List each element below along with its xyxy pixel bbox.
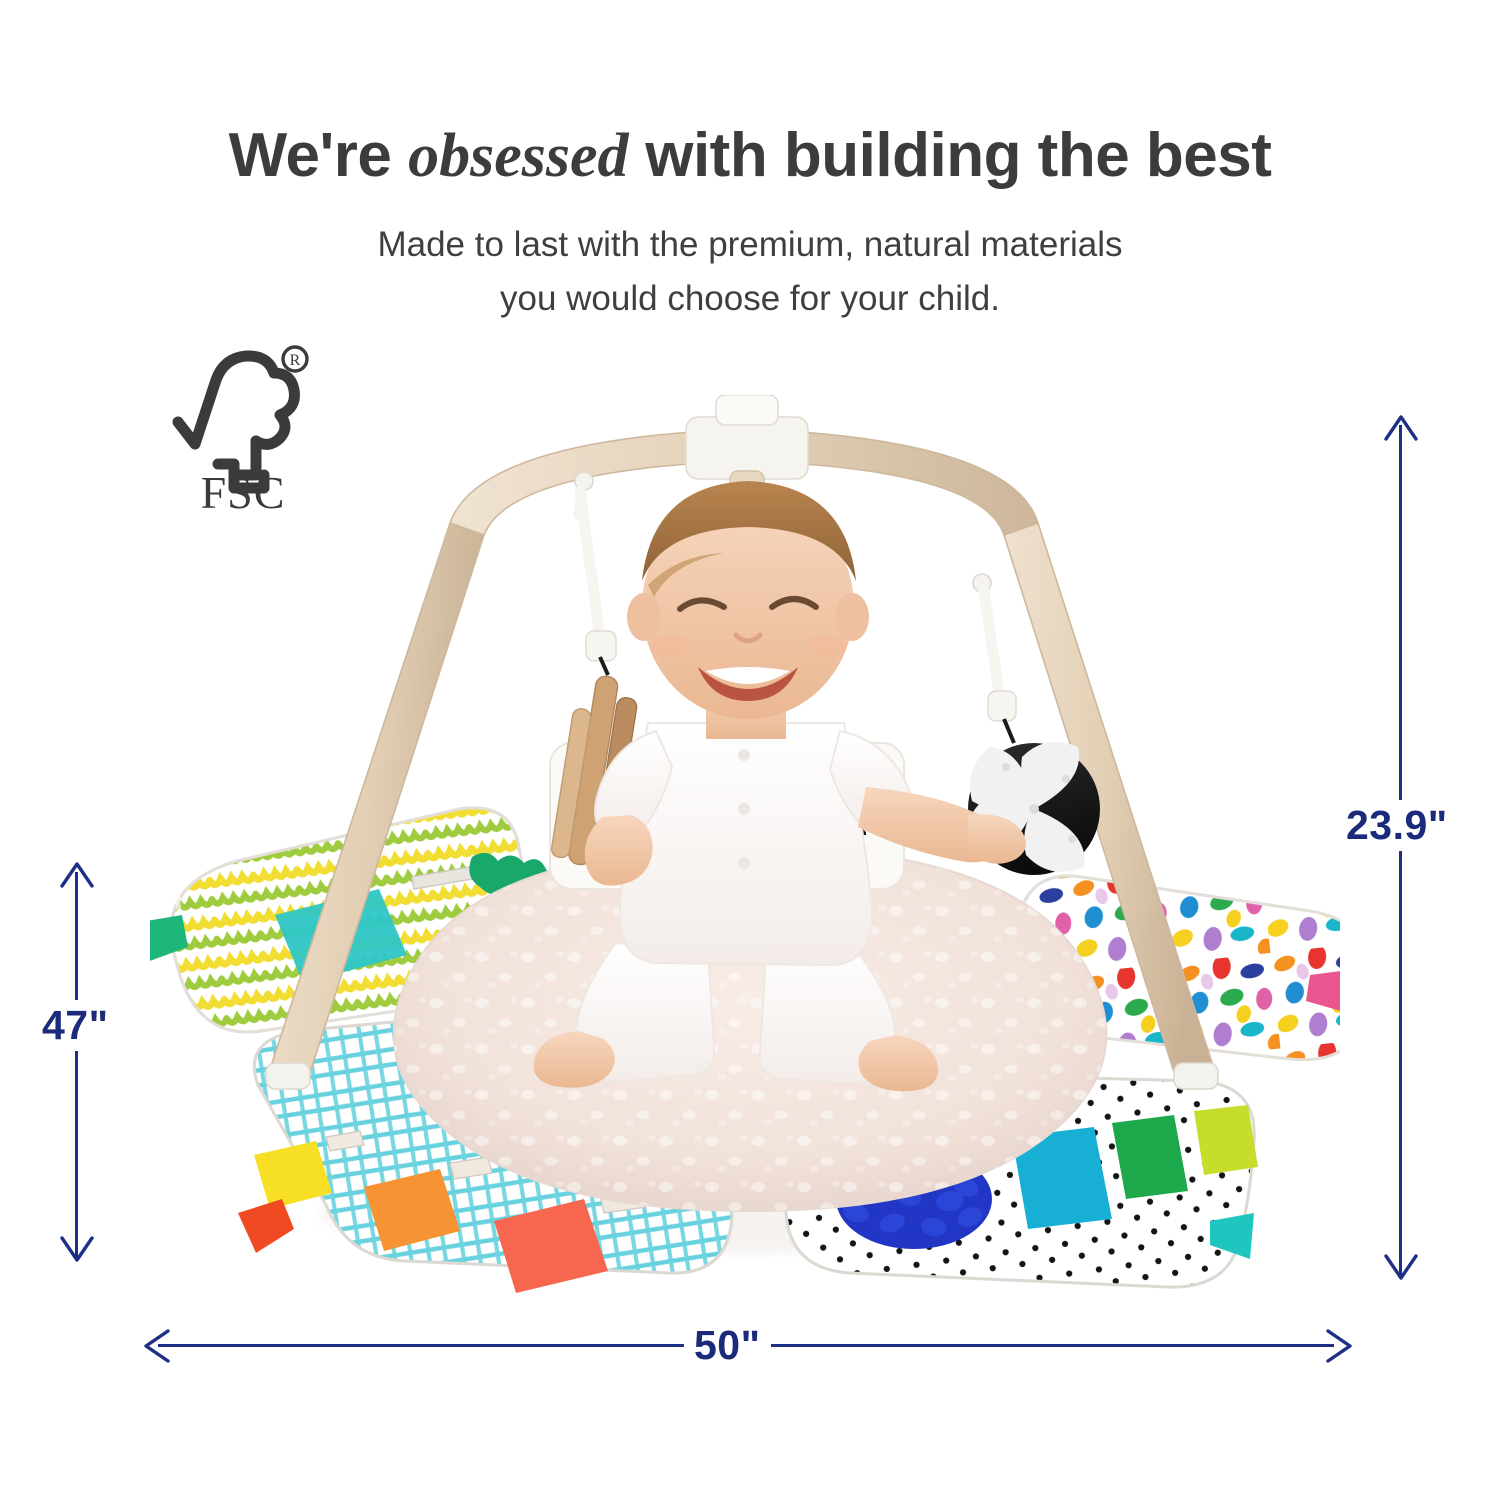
strap-left <box>580 491 602 653</box>
dimension-bottom-label: 50" <box>684 1320 771 1371</box>
tag-red <box>238 1199 294 1253</box>
arrowhead-left-bottom <box>144 1327 170 1365</box>
headline-part-2: with building the best <box>629 121 1272 190</box>
arrowhead-down-left <box>58 1236 96 1262</box>
arrowhead-up-left <box>58 862 96 888</box>
registered-mark: R <box>290 352 301 369</box>
infographic-canvas: We're obsessed with building the best Ma… <box>0 0 1500 1499</box>
page-subtitle: Made to last with the premium, natural m… <box>225 218 1275 327</box>
arrowhead-up-right <box>1382 415 1420 441</box>
arrowhead-right-bottom <box>1326 1327 1352 1365</box>
subtitle-line-1: Made to last with the premium, natural m… <box>225 218 1275 272</box>
product-illustration <box>150 395 1340 1295</box>
dimension-right-label: 23.9" <box>1336 800 1458 851</box>
strap-adjuster-left <box>586 631 616 661</box>
dimension-left-line <box>75 872 78 1257</box>
arch-foot-right <box>1174 1063 1218 1089</box>
subtitle-line-2: you would choose for your child. <box>225 272 1275 326</box>
fabric-strip-lime <box>1194 1105 1258 1175</box>
dimension-left-label: 47" <box>32 1000 119 1051</box>
page-title: We're obsessed with building the best <box>0 123 1500 189</box>
headline-emphasis: obsessed <box>408 122 628 190</box>
headline-part-1: We're <box>229 121 408 190</box>
arch-foot-left <box>266 1063 310 1089</box>
arrowhead-down-right <box>1382 1254 1420 1280</box>
strap-adjuster-right <box>988 691 1016 721</box>
